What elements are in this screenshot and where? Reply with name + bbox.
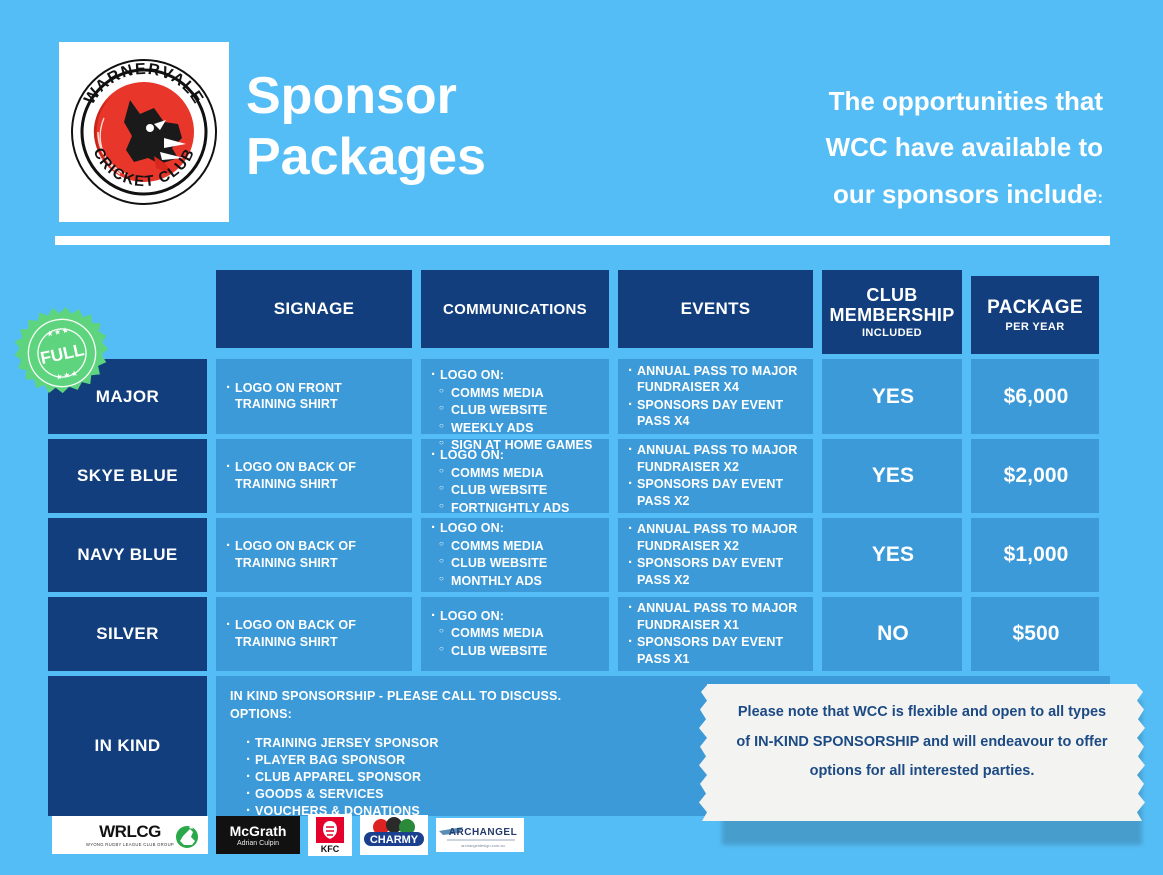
tier-label-skye-blue: SKYE BLUE	[48, 439, 207, 513]
cell-package-navy-blue: $1,000	[971, 518, 1099, 592]
list-item: LOGO ON:	[429, 447, 603, 464]
cell-membership-major: YES	[822, 359, 962, 434]
sponsor-logo-mcgrath: McGrath Adrian Culpin	[216, 816, 300, 854]
list-item: LOGO ON:	[429, 367, 603, 384]
sponsor-logo-charmy: CHARMY	[360, 815, 428, 855]
cell-communications-skye-blue: LOGO ON: COMMS MEDIA CLUB WEBSITE FORTNI…	[421, 439, 609, 513]
cell-signage-skye-blue: LOGO ON BACK OF TRAINING SHIRT	[216, 439, 412, 513]
tier-label-navy-blue: NAVY BLUE	[48, 518, 207, 592]
cell-membership-skye-blue: YES	[822, 439, 962, 513]
warnervale-cricket-club-logo-icon: WARNERVALE CRICKET CLUB	[68, 52, 220, 212]
cell-signage-major: LOGO ON FRONT TRAINING SHIRT	[216, 359, 412, 434]
list-item: ANNUAL PASS TO MAJOR FUNDRAISER X1	[626, 600, 807, 633]
header-divider	[55, 236, 1110, 245]
cell-membership-navy-blue: YES	[822, 518, 962, 592]
charmy-icon: CHARMY	[361, 816, 427, 854]
sponsor-logo-strip: WRLCG WYONG RUGBY LEAGUE CLUB GROUP McGr…	[52, 814, 524, 856]
list-item: CLUB WEBSITE	[438, 482, 603, 499]
cell-events-navy-blue: ANNUAL PASS TO MAJOR FUNDRAISER X2 SPONS…	[618, 518, 813, 592]
tagline: The opportunities that WCC have availabl…	[683, 78, 1103, 217]
tagline-line-3: our sponsors include:	[683, 171, 1103, 217]
tier-label-in-kind: IN KIND	[48, 676, 207, 816]
cell-communications-silver: LOGO ON: COMMS MEDIA CLUB WEBSITE	[421, 597, 609, 671]
list-item: LOGO ON:	[429, 520, 547, 537]
table-row: NAVY BLUE LOGO ON BACK OF TRAINING SHIRT…	[48, 518, 1110, 592]
cell-events-major: ANNUAL PASS TO MAJOR FUNDRAISER X4 SPONS…	[618, 359, 813, 434]
list-item: WEEKLY ADS	[438, 420, 603, 437]
list-item: COMMS MEDIA	[438, 538, 547, 555]
sponsor-logo-kfc-name: KFC	[321, 844, 340, 854]
sponsor-logo-archangel-name: ARCHANGEL	[449, 827, 517, 838]
column-header-club-membership-sub: INCLUDED	[822, 327, 962, 339]
tier-label-silver: SILVER	[48, 597, 207, 671]
list-item: COMMS MEDIA	[438, 465, 603, 482]
cell-membership-silver: NO	[822, 597, 962, 671]
table-row: SILVER LOGO ON BACK OF TRAINING SHIRT LO…	[48, 597, 1110, 671]
list-item: LOGO ON BACK OF TRAINING SHIRT	[224, 538, 406, 571]
column-header-package: PACKAGE PER YEAR	[971, 276, 1099, 354]
column-header-package-sub: PER YEAR	[987, 321, 1083, 333]
sponsor-logo-archangel: ARCHANGEL archangeldesign.com.au	[436, 818, 524, 852]
page-title: Sponsor Packages	[246, 66, 666, 189]
list-item: SPONSORS DAY EVENT PASS X2	[626, 476, 807, 509]
in-kind-note: Please note that WCC is flexible and ope…	[707, 684, 1137, 821]
column-header-communications: COMMUNICATIONS	[421, 270, 609, 348]
cell-communications-major: LOGO ON: COMMS MEDIA CLUB WEBSITE WEEKLY…	[421, 359, 609, 434]
list-item: CLUB WEBSITE	[438, 643, 547, 660]
in-kind-note-text: Please note that WCC is flexible and ope…	[736, 704, 1107, 779]
list-item: ANNUAL PASS TO MAJOR FUNDRAISER X2	[626, 442, 807, 475]
page-title-line-1: Sponsor	[246, 66, 666, 127]
list-item: COMMS MEDIA	[438, 625, 547, 642]
list-item: FORTNIGHTLY ADS	[438, 500, 603, 517]
list-item: LOGO ON BACK OF TRAINING SHIRT	[224, 617, 406, 650]
table-header-row: SIGNAGE COMMUNICATIONS EVENTS CLUB MEMBE…	[48, 270, 1110, 354]
list-item: CLUB WEBSITE	[438, 555, 547, 572]
cell-package-silver: $500	[971, 597, 1099, 671]
sponsor-logo-charmy-name: CHARMY	[370, 834, 419, 846]
list-item: COMMS MEDIA	[438, 385, 603, 402]
sponsor-logo-mcgrath-name: McGrath	[230, 824, 287, 838]
cell-signage-navy-blue: LOGO ON BACK OF TRAINING SHIRT	[216, 518, 412, 592]
column-header-package-label: PACKAGE	[987, 297, 1083, 318]
tagline-line-1: The opportunities that	[683, 78, 1103, 124]
list-item: SPONSORS DAY EVENT PASS X2	[626, 555, 807, 588]
torn-edge-right-icon	[1136, 684, 1146, 821]
full-badge: ★ ★ ★ ★ ★ ★ FULL	[14, 305, 110, 401]
svg-text:archangeldesign.com.au: archangeldesign.com.au	[461, 843, 505, 848]
rosette-seal-icon: ★ ★ ★ ★ ★ ★ FULL	[14, 305, 110, 401]
page-header: WARNERVALE CRICKET CLUB Sponsor Packages…	[0, 0, 1163, 230]
column-header-signage: SIGNAGE	[216, 270, 412, 348]
archangel-wing-icon: ARCHANGEL archangeldesign.com.au	[437, 819, 523, 851]
list-item: LOGO ON:	[429, 608, 547, 625]
page-title-line-2: Packages	[246, 127, 666, 188]
cell-package-major: $6,000	[971, 359, 1099, 434]
cell-events-skye-blue: ANNUAL PASS TO MAJOR FUNDRAISER X2 SPONS…	[618, 439, 813, 513]
sponsor-logo-kfc: KFC	[308, 814, 352, 856]
cell-package-skye-blue: $2,000	[971, 439, 1099, 513]
cell-events-silver: ANNUAL PASS TO MAJOR FUNDRAISER X1 SPONS…	[618, 597, 813, 671]
tagline-line-2: WCC have available to	[683, 124, 1103, 170]
column-header-events: EVENTS	[618, 270, 813, 348]
cell-communications-navy-blue: LOGO ON: COMMS MEDIA CLUB WEBSITE MONTHL…	[421, 518, 609, 592]
list-item: ANNUAL PASS TO MAJOR FUNDRAISER X2	[626, 521, 807, 554]
list-item: SPONSORS DAY EVENT PASS X1	[626, 634, 807, 667]
table-row: MAJOR LOGO ON FRONT TRAINING SHIRT LOGO …	[48, 359, 1110, 434]
list-item: SPONSORS DAY EVENT PASS X4	[626, 397, 807, 430]
column-header-club-membership-label: CLUB MEMBERSHIP	[829, 285, 954, 325]
list-item: LOGO ON BACK OF TRAINING SHIRT	[224, 459, 406, 492]
list-item: CLUB WEBSITE	[438, 402, 603, 419]
sponsor-logo-mcgrath-subtitle: Adrian Culpin	[230, 840, 287, 847]
list-item: LOGO ON FRONT TRAINING SHIRT	[224, 380, 406, 413]
list-item: MONTHLY ADS	[438, 573, 547, 590]
club-logo: WARNERVALE CRICKET CLUB	[59, 42, 229, 222]
cell-signage-silver: LOGO ON BACK OF TRAINING SHIRT	[216, 597, 412, 671]
list-item: ANNUAL PASS TO MAJOR FUNDRAISER X4	[626, 363, 807, 396]
kfc-colonel-icon: KFC	[310, 815, 350, 855]
tagline-colon: :	[1097, 188, 1103, 207]
kangaroo-icon	[170, 825, 204, 851]
column-header-club-membership: CLUB MEMBERSHIP INCLUDED	[822, 270, 962, 354]
sponsor-logo-wrlcg: WRLCG WYONG RUGBY LEAGUE CLUB GROUP	[52, 816, 208, 854]
torn-edge-left-icon	[698, 684, 708, 821]
table-row: SKYE BLUE LOGO ON BACK OF TRAINING SHIRT…	[48, 439, 1110, 513]
